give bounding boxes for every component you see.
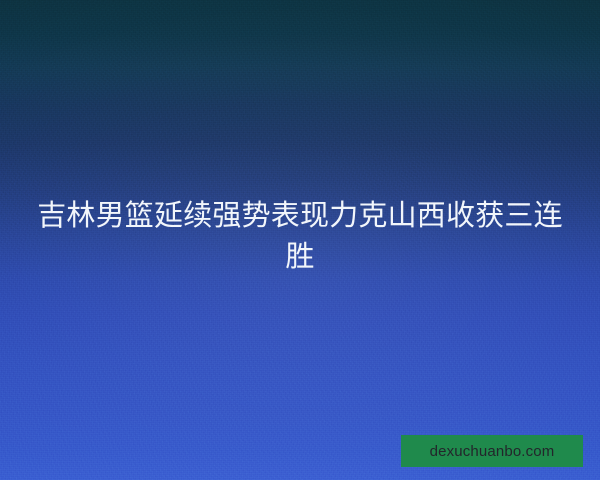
news-image-card: 吉林男篮延续强势表现力克山西收获三连胜 dexuchuanbo.com: [0, 0, 600, 480]
watermark-badge: dexuchuanbo.com: [401, 435, 583, 467]
headline-text: 吉林男篮延续强势表现力克山西收获三连胜: [0, 196, 600, 278]
watermark-label: dexuchuanbo.com: [430, 444, 555, 459]
